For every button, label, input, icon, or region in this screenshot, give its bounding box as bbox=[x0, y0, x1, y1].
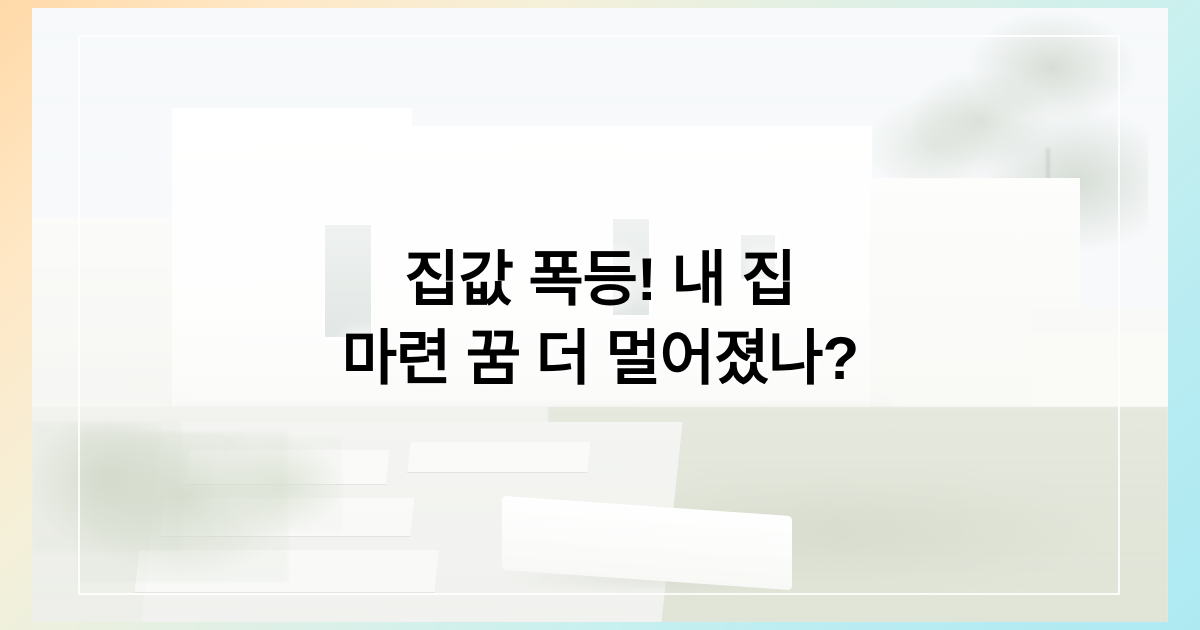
shrub-center bbox=[222, 437, 342, 532]
thumbnail-banner: 집값 폭등! 내 집 마련 꿈 더 멀어졌나? bbox=[0, 0, 1200, 630]
house-wall-left bbox=[32, 218, 182, 428]
window-small-right bbox=[738, 232, 778, 282]
window-tall-left bbox=[322, 222, 374, 340]
path-slab bbox=[407, 442, 590, 472]
window-tall-center bbox=[610, 216, 652, 318]
background-photo bbox=[32, 8, 1168, 622]
